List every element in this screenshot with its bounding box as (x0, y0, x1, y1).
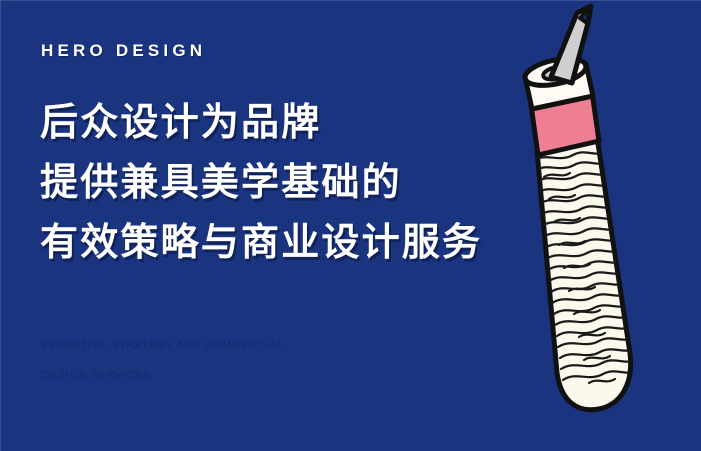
knife-blade (551, 6, 591, 83)
subcaption-line-1: EFFECTIVE STRATEGY AND COMMERCIAL (42, 331, 422, 361)
headline-line-1: 后众设计为品牌 (40, 93, 600, 153)
headline-line-3: 有效策略与商业设计服务 (40, 213, 600, 273)
poster-canvas: HERO DESIGN 后众设计为品牌 提供兼具美学基础的 有效策略与商业设计服… (0, 0, 701, 451)
brand-logotype: HERO DESIGN (41, 42, 206, 59)
headline-block: 后众设计为品牌 提供兼具美学基础的 有效策略与商业设计服务 (40, 93, 600, 273)
subcaption-block: EFFECTIVE STRATEGY AND COMMERCIAL DESIGN… (42, 331, 422, 391)
subcaption-line-2: DESIGN SERVICES (42, 361, 422, 391)
headline-line-2: 提供兼具美学基础的 (40, 153, 600, 213)
